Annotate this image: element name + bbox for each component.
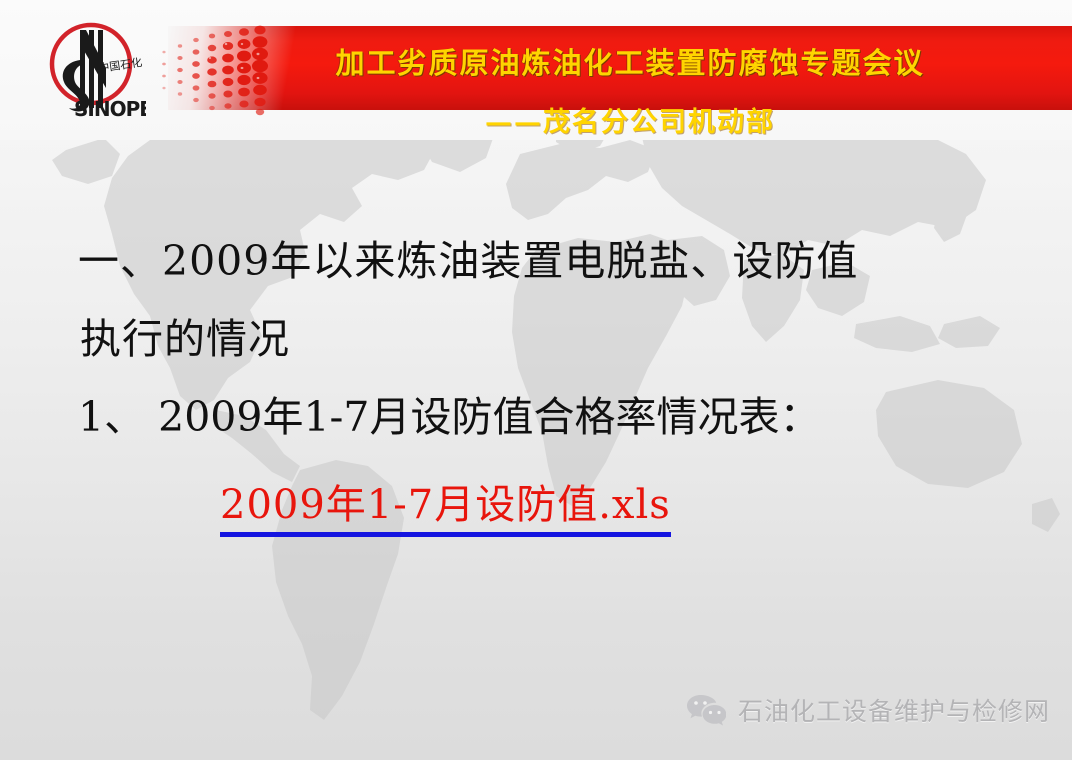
body-line-2: 执行的情况 bbox=[78, 300, 1018, 378]
logo-brand-cn-text: 中国石化 bbox=[97, 55, 143, 75]
body-line-3: 1、 2009年1-7月设防值合格率情况表： bbox=[78, 378, 1018, 456]
watermark-text: 石油化工设备维护与检修网 bbox=[738, 692, 1050, 728]
presentation-slide: SINOPEC 中国石化 加工劣质原油炼油化工装置防腐蚀专题会议 ——茂名分公司… bbox=[0, 0, 1072, 760]
svg-text:SINOPEC: SINOPEC bbox=[74, 97, 146, 121]
sinopec-logo: SINOPEC 中国石化 bbox=[36, 14, 146, 130]
attachment-link-row: 2009年1-7月设防值.xls bbox=[78, 472, 1018, 537]
slide-body: 一、2009年以来炼油装置电脱盐、设防值 执行的情况 1、 2009年1-7月设… bbox=[78, 222, 1018, 537]
slide-title: 加工劣质原油炼油化工装置防腐蚀专题会议 bbox=[200, 40, 1060, 82]
wechat-icon bbox=[686, 693, 726, 727]
slide-header: SINOPEC 中国石化 加工劣质原油炼油化工装置防腐蚀专题会议 ——茂名分公司… bbox=[0, 0, 1072, 140]
body-line-1: 一、2009年以来炼油装置电脱盐、设防值 bbox=[78, 222, 1018, 300]
site-watermark: 石油化工设备维护与检修网 bbox=[686, 692, 1050, 728]
xls-attachment-link[interactable]: 2009年1-7月设防值.xls bbox=[220, 472, 671, 537]
slide-subtitle: ——茂名分公司机动部 bbox=[200, 100, 1060, 139]
